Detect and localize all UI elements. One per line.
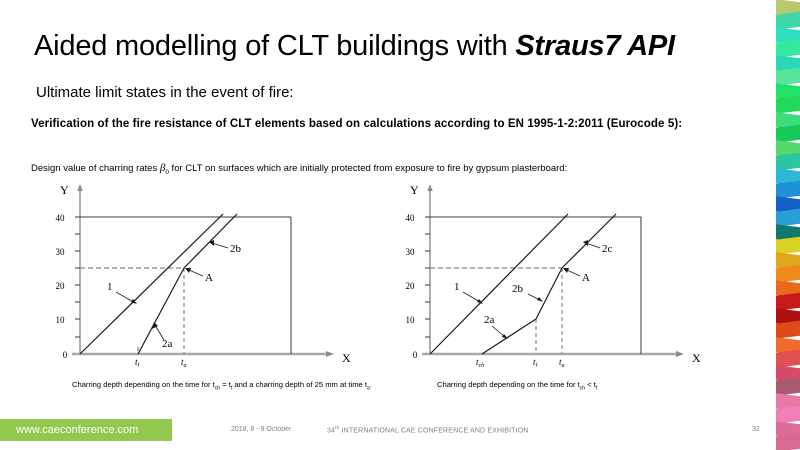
left-leader-2b	[212, 243, 228, 248]
right-curve-1	[430, 214, 568, 354]
right-curve-label-2b: 2b	[512, 283, 524, 295]
left-figure: Y X 40 30 20 10 0 tf ta 1 2a 2b A	[42, 182, 382, 372]
left-ylabel-40: 40	[56, 213, 66, 223]
page-title-main: Aided modelling of CLT buildings with	[34, 30, 515, 62]
right-curve-label-2c: 2c	[602, 243, 613, 255]
right-y-axis-arrow	[427, 184, 432, 191]
right-leader-1	[463, 292, 480, 302]
footer-conference-name: 34th INTERNATIONAL CAE CONFERENCE AND EX…	[327, 426, 529, 434]
left-x-axis-arrow	[326, 351, 334, 357]
left-figure-caption: Charring depth depending on the time for…	[72, 379, 372, 395]
left-leader-2a	[155, 325, 164, 340]
page-subtitle: Ultimate limit states in the event of fi…	[36, 84, 294, 102]
right-leader-2b-arrow	[537, 297, 543, 302]
left-curve-label-1: 1	[107, 281, 113, 293]
right-leader-2c	[586, 243, 600, 248]
description-prefix: Design value of charring rates	[31, 163, 160, 174]
right-caption-part2: < t	[585, 380, 596, 389]
right-figure: Y X 40 30 20 10 0 tch tf ta 1 2a 2b 2c A	[392, 182, 732, 372]
left-leader-2b-arrow	[209, 240, 214, 246]
left-caption-part1: Charring depth depending on the time for…	[72, 380, 215, 389]
right-caption-sub2: f	[596, 386, 597, 392]
left-ylabel-0: 0	[63, 350, 68, 360]
right-curve-2c	[562, 214, 616, 268]
footer-date: 2018, 8 - 9 October	[231, 426, 291, 433]
footer-website-link[interactable]: www.caeconference.com	[16, 424, 138, 437]
right-leader-A	[567, 270, 580, 276]
left-point-label-A: A	[205, 272, 213, 284]
right-ylabel-40: 40	[406, 213, 416, 223]
right-curve-label-1: 1	[454, 281, 460, 293]
left-x-axis-label: X	[342, 351, 351, 365]
right-xlabel-ta: ta	[559, 357, 565, 367]
verification-paragraph: Verification of the fire resistance of C…	[31, 117, 741, 132]
left-ylabel-20: 20	[56, 281, 66, 291]
decorative-mosaic-strip	[764, 0, 800, 450]
right-curve-2b	[536, 268, 562, 319]
right-figure-caption: Charring depth depending on the time for…	[437, 379, 737, 395]
description-suffix: for CLT on surfaces which are initially …	[169, 163, 567, 174]
left-caption-part3: and a charring depth of 25 mm at time t	[232, 380, 367, 389]
right-ylabel-30: 30	[406, 247, 416, 257]
left-ylabel-30: 30	[56, 247, 66, 257]
right-ylabel-10: 10	[406, 315, 416, 325]
left-caption-part2: = t	[220, 380, 231, 389]
left-xlabel-ta: ta	[181, 357, 187, 367]
left-y-axis-arrow	[77, 184, 82, 191]
footer-conference-title: INTERNATIONAL CAE CONFERENCE AND EXHIBIT…	[339, 427, 528, 434]
right-ylabel-0: 0	[413, 350, 418, 360]
charring-rate-description: Design value of charring rates β0 for CL…	[31, 162, 761, 179]
left-xlabel-tf: tf	[135, 357, 141, 367]
right-xlabel-tch: tch	[476, 357, 484, 367]
left-ylabel-10: 10	[56, 315, 66, 325]
right-chart-svg: Y X 40 30 20 10 0 tch tf ta 1 2a 2b 2c A	[392, 182, 732, 367]
left-y-axis-label: Y	[60, 183, 69, 197]
right-xlabel-tf: tf	[533, 357, 539, 367]
right-x-axis-label: X	[692, 351, 701, 365]
page-title-italic: Straus7 API	[515, 30, 675, 62]
right-leader-2a	[492, 326, 505, 337]
page-title: Aided modelling of CLT buildings with St…	[34, 29, 724, 63]
right-y-axis-label: Y	[410, 183, 419, 197]
left-chart-svg: Y X 40 30 20 10 0 tf ta 1 2a 2b A	[42, 182, 382, 367]
footer-page-number: 32	[752, 426, 760, 433]
right-point-label-A: A	[582, 272, 590, 284]
right-caption-part1: Charring depth depending on the time for…	[437, 380, 580, 389]
left-curve-2a	[138, 268, 184, 354]
right-x-axis-arrow	[676, 351, 684, 357]
footer-conference-number: 34	[327, 427, 335, 434]
right-ylabel-20: 20	[406, 281, 416, 291]
left-leader-A	[189, 270, 203, 276]
slide-canvas: Aided modelling of CLT buildings with St…	[0, 0, 800, 450]
left-curve-label-2b: 2b	[230, 243, 242, 255]
left-caption-part4: .	[370, 380, 372, 389]
right-curve-label-2a: 2a	[484, 314, 495, 326]
left-curve-2b	[184, 214, 237, 268]
left-curve-1	[80, 214, 223, 354]
mosaic-left-margin	[764, 0, 776, 450]
